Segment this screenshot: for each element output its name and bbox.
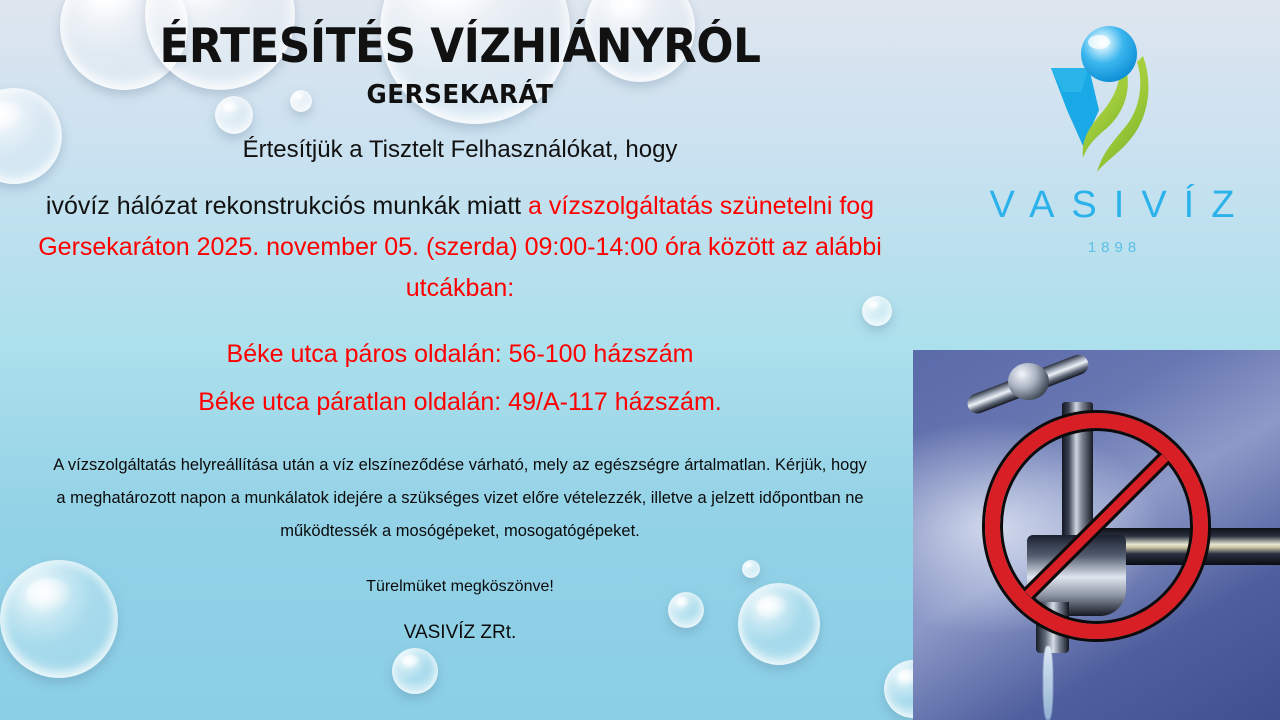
logo-founding-year: 1898	[952, 239, 1272, 256]
vasiviz-sphere-leaf-mark	[1037, 18, 1187, 178]
slide-canvas: ÉRTESÍTÉS VÍZHIÁNYRÓL GERSEKARÁT Értesít…	[0, 0, 1280, 720]
lead-sentence: Értesítjük a Tisztelt Felhasználókat, ho…	[0, 136, 920, 164]
street-line: Béke utca páros oldalán: 56-100 házszám	[0, 330, 920, 379]
photo-water-stream	[1043, 646, 1053, 720]
advisory-paragraph: A vízszolgáltatás helyreállítása után a …	[0, 449, 920, 548]
outage-notice: ivóvíz hálózat rekonstrukciós munkák mia…	[0, 186, 920, 310]
vasiviz-logo: VASIVÍZ 1898	[952, 18, 1272, 256]
thanks-line: Türelmüket megköszönve!	[0, 566, 920, 608]
settlement-subtitle: GERSEKARÁT	[23, 80, 897, 110]
outage-notice-black: ivóvíz hálózat rekonstrukciós munkák mia…	[46, 192, 528, 220]
prohibition-slash-icon	[985, 413, 1209, 639]
affected-streets-list: Béke utca páros oldalán: 56-100 házszám …	[0, 330, 920, 428]
logo-wordmark: VASIVÍZ	[952, 184, 1272, 227]
photo-tap-knob	[1008, 363, 1048, 400]
notice-text-column: ÉRTESÍTÉS VÍZHIÁNYRÓL GERSEKARÁT Értesít…	[0, 0, 920, 657]
street-line: Béke utca páratlan oldalán: 49/A-117 ház…	[0, 378, 920, 427]
no-water-tap-photo	[913, 350, 1280, 720]
closing-block: Türelmüket megköszönve! VASIVÍZ ZRt.	[0, 566, 920, 657]
page-title: ÉRTESÍTÉS VÍZHIÁNYRÓL	[32, 22, 888, 72]
company-signature: VASIVÍZ ZRt.	[0, 608, 920, 657]
